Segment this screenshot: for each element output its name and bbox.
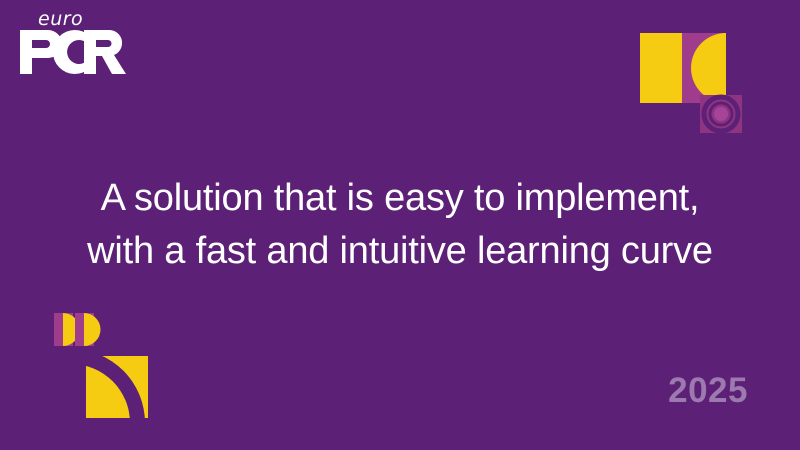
logo-pcr-mark	[18, 28, 178, 76]
top-right-emblem	[636, 28, 746, 133]
europcr-logo: euro	[18, 8, 178, 78]
yellow-rectangle	[640, 33, 682, 103]
headline-line-2: with a fast and intuitive learning curve	[0, 225, 800, 278]
logo-euro-text: euro	[38, 10, 83, 29]
slide-canvas: euro	[0, 0, 800, 450]
ring-inner	[714, 107, 728, 121]
headline-line-1: A solution that is easy to implement,	[0, 172, 800, 225]
year-label: 2025	[668, 373, 748, 408]
bottom-left-emblem	[50, 308, 180, 423]
headline: A solution that is easy to implement, wi…	[0, 172, 800, 278]
